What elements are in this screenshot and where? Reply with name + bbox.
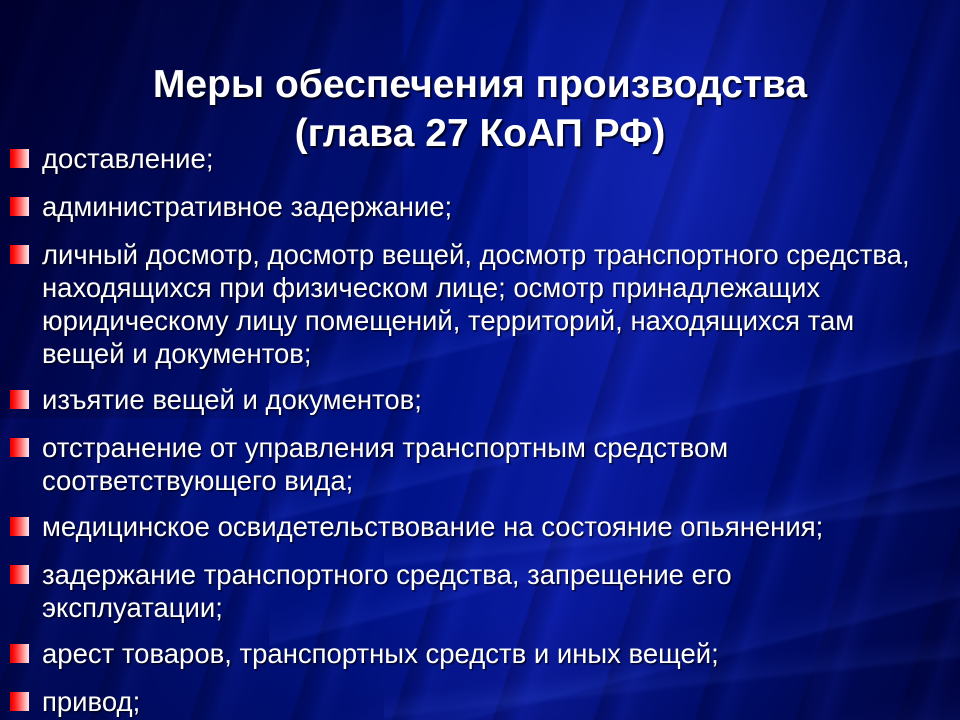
bullet-square-icon bbox=[10, 197, 29, 216]
slide-content: Меры обеспечения производства (глава 27 … bbox=[0, 0, 960, 720]
list-item: отстранение от управления транспортным с… bbox=[10, 431, 950, 497]
list-item-label: изъятие вещей и документов; bbox=[42, 383, 950, 416]
list-item: административное задержание; bbox=[10, 190, 950, 223]
list-item-label: арест товаров, транспортных средств и ин… bbox=[42, 637, 950, 670]
bullet-square-icon bbox=[10, 149, 29, 168]
bullet-square-icon bbox=[10, 644, 29, 663]
bullet-square-icon bbox=[10, 245, 29, 264]
list-item-label: административное задержание; bbox=[42, 190, 950, 223]
list-item-label: задержание транспортного средства, запре… bbox=[42, 558, 950, 624]
list-item: привод; bbox=[10, 685, 950, 718]
bullet-square-icon bbox=[10, 692, 29, 711]
measures-bullet-list: доставление;административное задержание;… bbox=[10, 142, 950, 720]
list-item-label: привод; bbox=[42, 685, 950, 718]
list-item: арест товаров, транспортных средств и ин… bbox=[10, 637, 950, 670]
list-item: задержание транспортного средства, запре… bbox=[10, 558, 950, 624]
list-item-label: отстранение от управления транспортным с… bbox=[42, 431, 950, 497]
list-item-label: личный досмотр, досмотр вещей, досмотр т… bbox=[42, 238, 950, 370]
bullet-square-icon bbox=[10, 565, 29, 584]
list-item: изъятие вещей и документов; bbox=[10, 383, 950, 416]
list-item: медицинское освидетельствование на состо… bbox=[10, 510, 950, 543]
list-item: личный досмотр, досмотр вещей, досмотр т… bbox=[10, 238, 950, 370]
list-item-label: доставление; bbox=[42, 142, 950, 175]
bullet-square-icon bbox=[10, 517, 29, 536]
bullet-square-icon bbox=[10, 438, 29, 457]
bullet-square-icon bbox=[10, 390, 29, 409]
list-item-label: медицинское освидетельствование на состо… bbox=[42, 510, 950, 543]
list-item: доставление; bbox=[10, 142, 950, 175]
presentation-slide: Меры обеспечения производства (глава 27 … bbox=[0, 0, 960, 720]
